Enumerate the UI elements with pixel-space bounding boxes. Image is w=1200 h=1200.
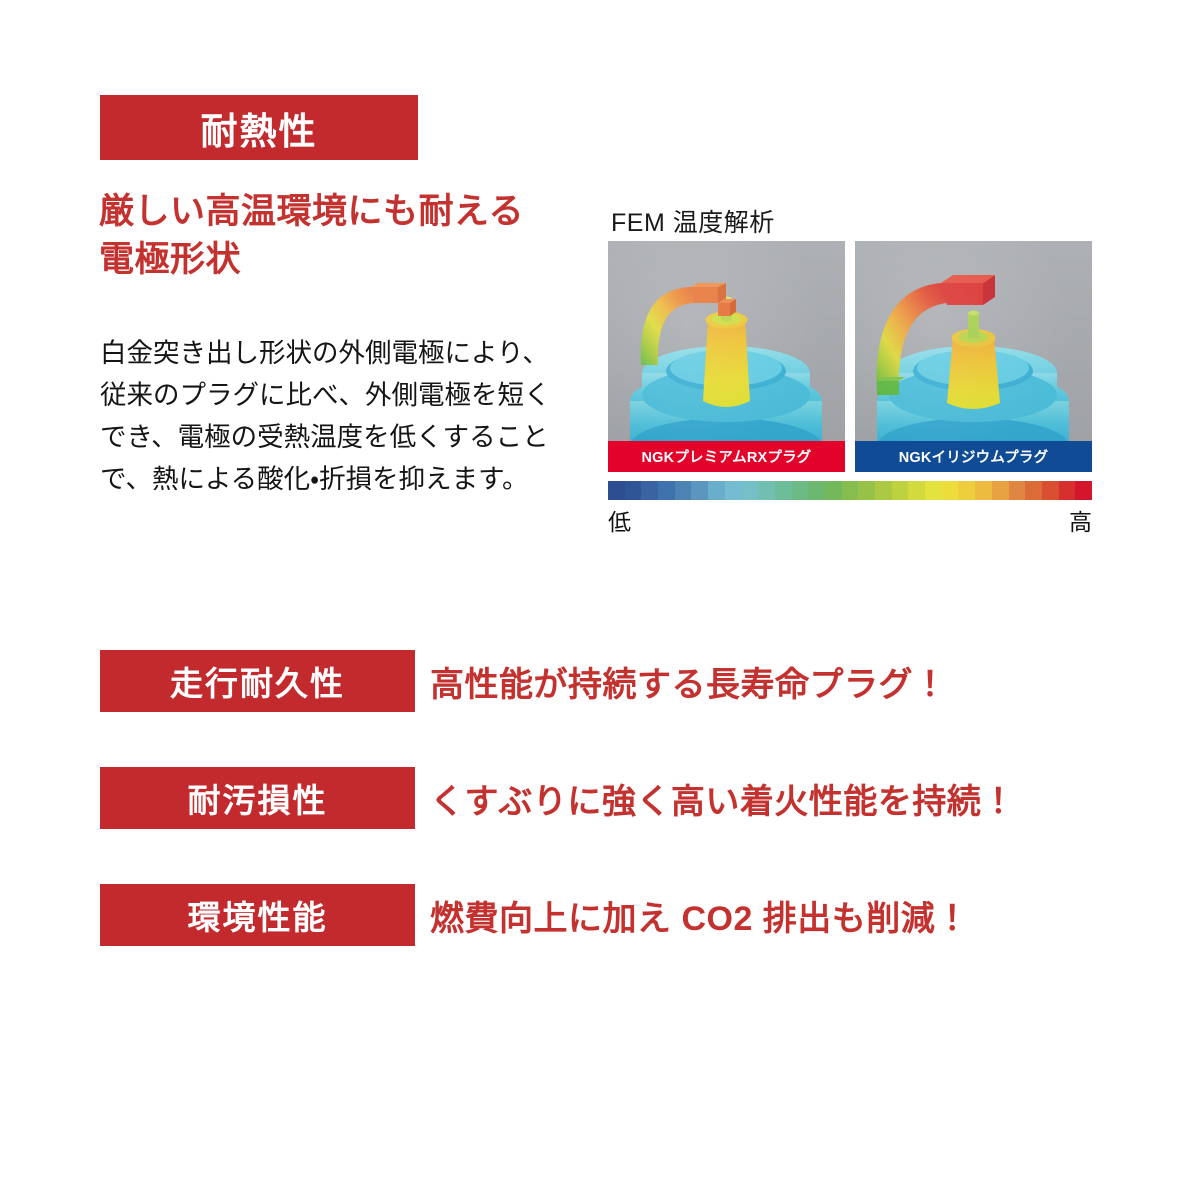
temperature-scale-segment-9 xyxy=(758,481,775,500)
heat-resistance-heading-line-2: 電極形状 xyxy=(99,236,569,284)
temperature-scale-segment-21 xyxy=(958,481,975,500)
temperature-scale-bar xyxy=(608,481,1092,500)
heat-resistance-body-text: 白金突き出し形状の外側電極により、 従来のプラグに比べ、外側電極を短く でき、電… xyxy=(100,332,578,500)
temperature-scale-high-label: 高 xyxy=(1069,503,1092,537)
body-line: で、熱による酸化・折損を抑えます。 xyxy=(100,458,578,500)
temperature-scale-segment-1 xyxy=(625,481,642,500)
temperature-scale-segment-3 xyxy=(658,481,675,500)
temperature-scale-segment-20 xyxy=(942,481,959,500)
fem-image-group: NGKプレミアムRXプラグ xyxy=(608,241,1092,472)
fem-thermal-render-premium-rx xyxy=(608,241,845,472)
feature-row-fouling-resistance: 耐汚損性 くすぶりに強く高い着火性能を持続！ xyxy=(100,767,1060,829)
temperature-scale-segment-4 xyxy=(675,481,692,500)
fem-caption-premium-rx: NGKプレミアムRXプラグ xyxy=(608,441,845,472)
temperature-scale-segment-27 xyxy=(1059,481,1076,500)
fem-analysis-title: FEM 温度解析 xyxy=(611,203,775,239)
feature-badge-environmental-performance: 環境性能 xyxy=(100,884,415,946)
heat-resistance-badge: 耐熱性 xyxy=(100,95,418,160)
temperature-scale-segment-6 xyxy=(708,481,725,500)
body-line: 白金突き出し形状の外側電極により、 xyxy=(100,332,578,374)
feature-row-environmental-performance: 環境性能 燃費向上に加え CO2 排出も削減！ xyxy=(100,884,1060,946)
feature-badge-label: 環境性能 xyxy=(188,891,328,939)
temperature-scale-segment-0 xyxy=(608,481,625,500)
fem-caption-iridium: NGKイリジウムプラグ xyxy=(855,441,1092,472)
feature-badge-label: 走行耐久性 xyxy=(170,657,345,705)
fem-panel-premium-rx: NGKプレミアムRXプラグ xyxy=(608,241,845,472)
temperature-scale-segment-25 xyxy=(1025,481,1042,500)
feature-text-environmental-performance: 燃費向上に加え CO2 排出も削減！ xyxy=(430,884,970,946)
feature-badge-driving-durability: 走行耐久性 xyxy=(100,650,415,712)
temperature-scale-segment-10 xyxy=(775,481,792,500)
temperature-scale-segment-14 xyxy=(842,481,859,500)
temperature-scale-segment-5 xyxy=(691,481,708,500)
temperature-scale-segment-23 xyxy=(992,481,1009,500)
temperature-scale-segment-15 xyxy=(858,481,875,500)
fem-panel-iridium: NGKイリジウムプラグ xyxy=(855,241,1092,472)
heat-resistance-heading: 厳しい高温環境にも耐える 電極形状 xyxy=(99,188,569,284)
temperature-scale-segment-22 xyxy=(975,481,992,500)
feature-row-driving-durability: 走行耐久性 高性能が持続する長寿命プラグ！ xyxy=(100,650,1060,712)
feature-badge-fouling-resistance: 耐汚損性 xyxy=(100,767,415,829)
temperature-scale-segment-8 xyxy=(742,481,759,500)
temperature-scale-segment-28 xyxy=(1075,481,1092,500)
heat-resistance-badge-label: 耐熱性 xyxy=(201,101,318,155)
feature-text-driving-durability: 高性能が持続する長寿命プラグ！ xyxy=(430,650,948,712)
temperature-scale-segment-13 xyxy=(825,481,842,500)
temperature-scale-segment-11 xyxy=(792,481,809,500)
temperature-scale-segment-26 xyxy=(1042,481,1059,500)
temperature-scale-low-label: 低 xyxy=(608,503,631,537)
temperature-scale-segment-18 xyxy=(908,481,925,500)
feature-text-fouling-resistance: くすぶりに強く高い着火性能を持続！ xyxy=(430,767,1016,829)
body-line: 従来のプラグに比べ、外側電極を短く xyxy=(100,374,578,416)
temperature-scale-segment-2 xyxy=(641,481,658,500)
fem-thermal-render-iridium xyxy=(855,241,1092,472)
temperature-scale-segment-24 xyxy=(1009,481,1026,500)
temperature-scale-segment-19 xyxy=(925,481,942,500)
heat-resistance-heading-line-1: 厳しい高温環境にも耐える xyxy=(99,188,569,236)
temperature-scale-segment-17 xyxy=(892,481,909,500)
feature-badge-label: 耐汚損性 xyxy=(188,774,328,822)
temperature-scale-segment-16 xyxy=(875,481,892,500)
temperature-scale-segment-7 xyxy=(725,481,742,500)
temperature-scale-segment-12 xyxy=(808,481,825,500)
body-line: でき、電極の受熱温度を低くすること xyxy=(100,416,578,458)
